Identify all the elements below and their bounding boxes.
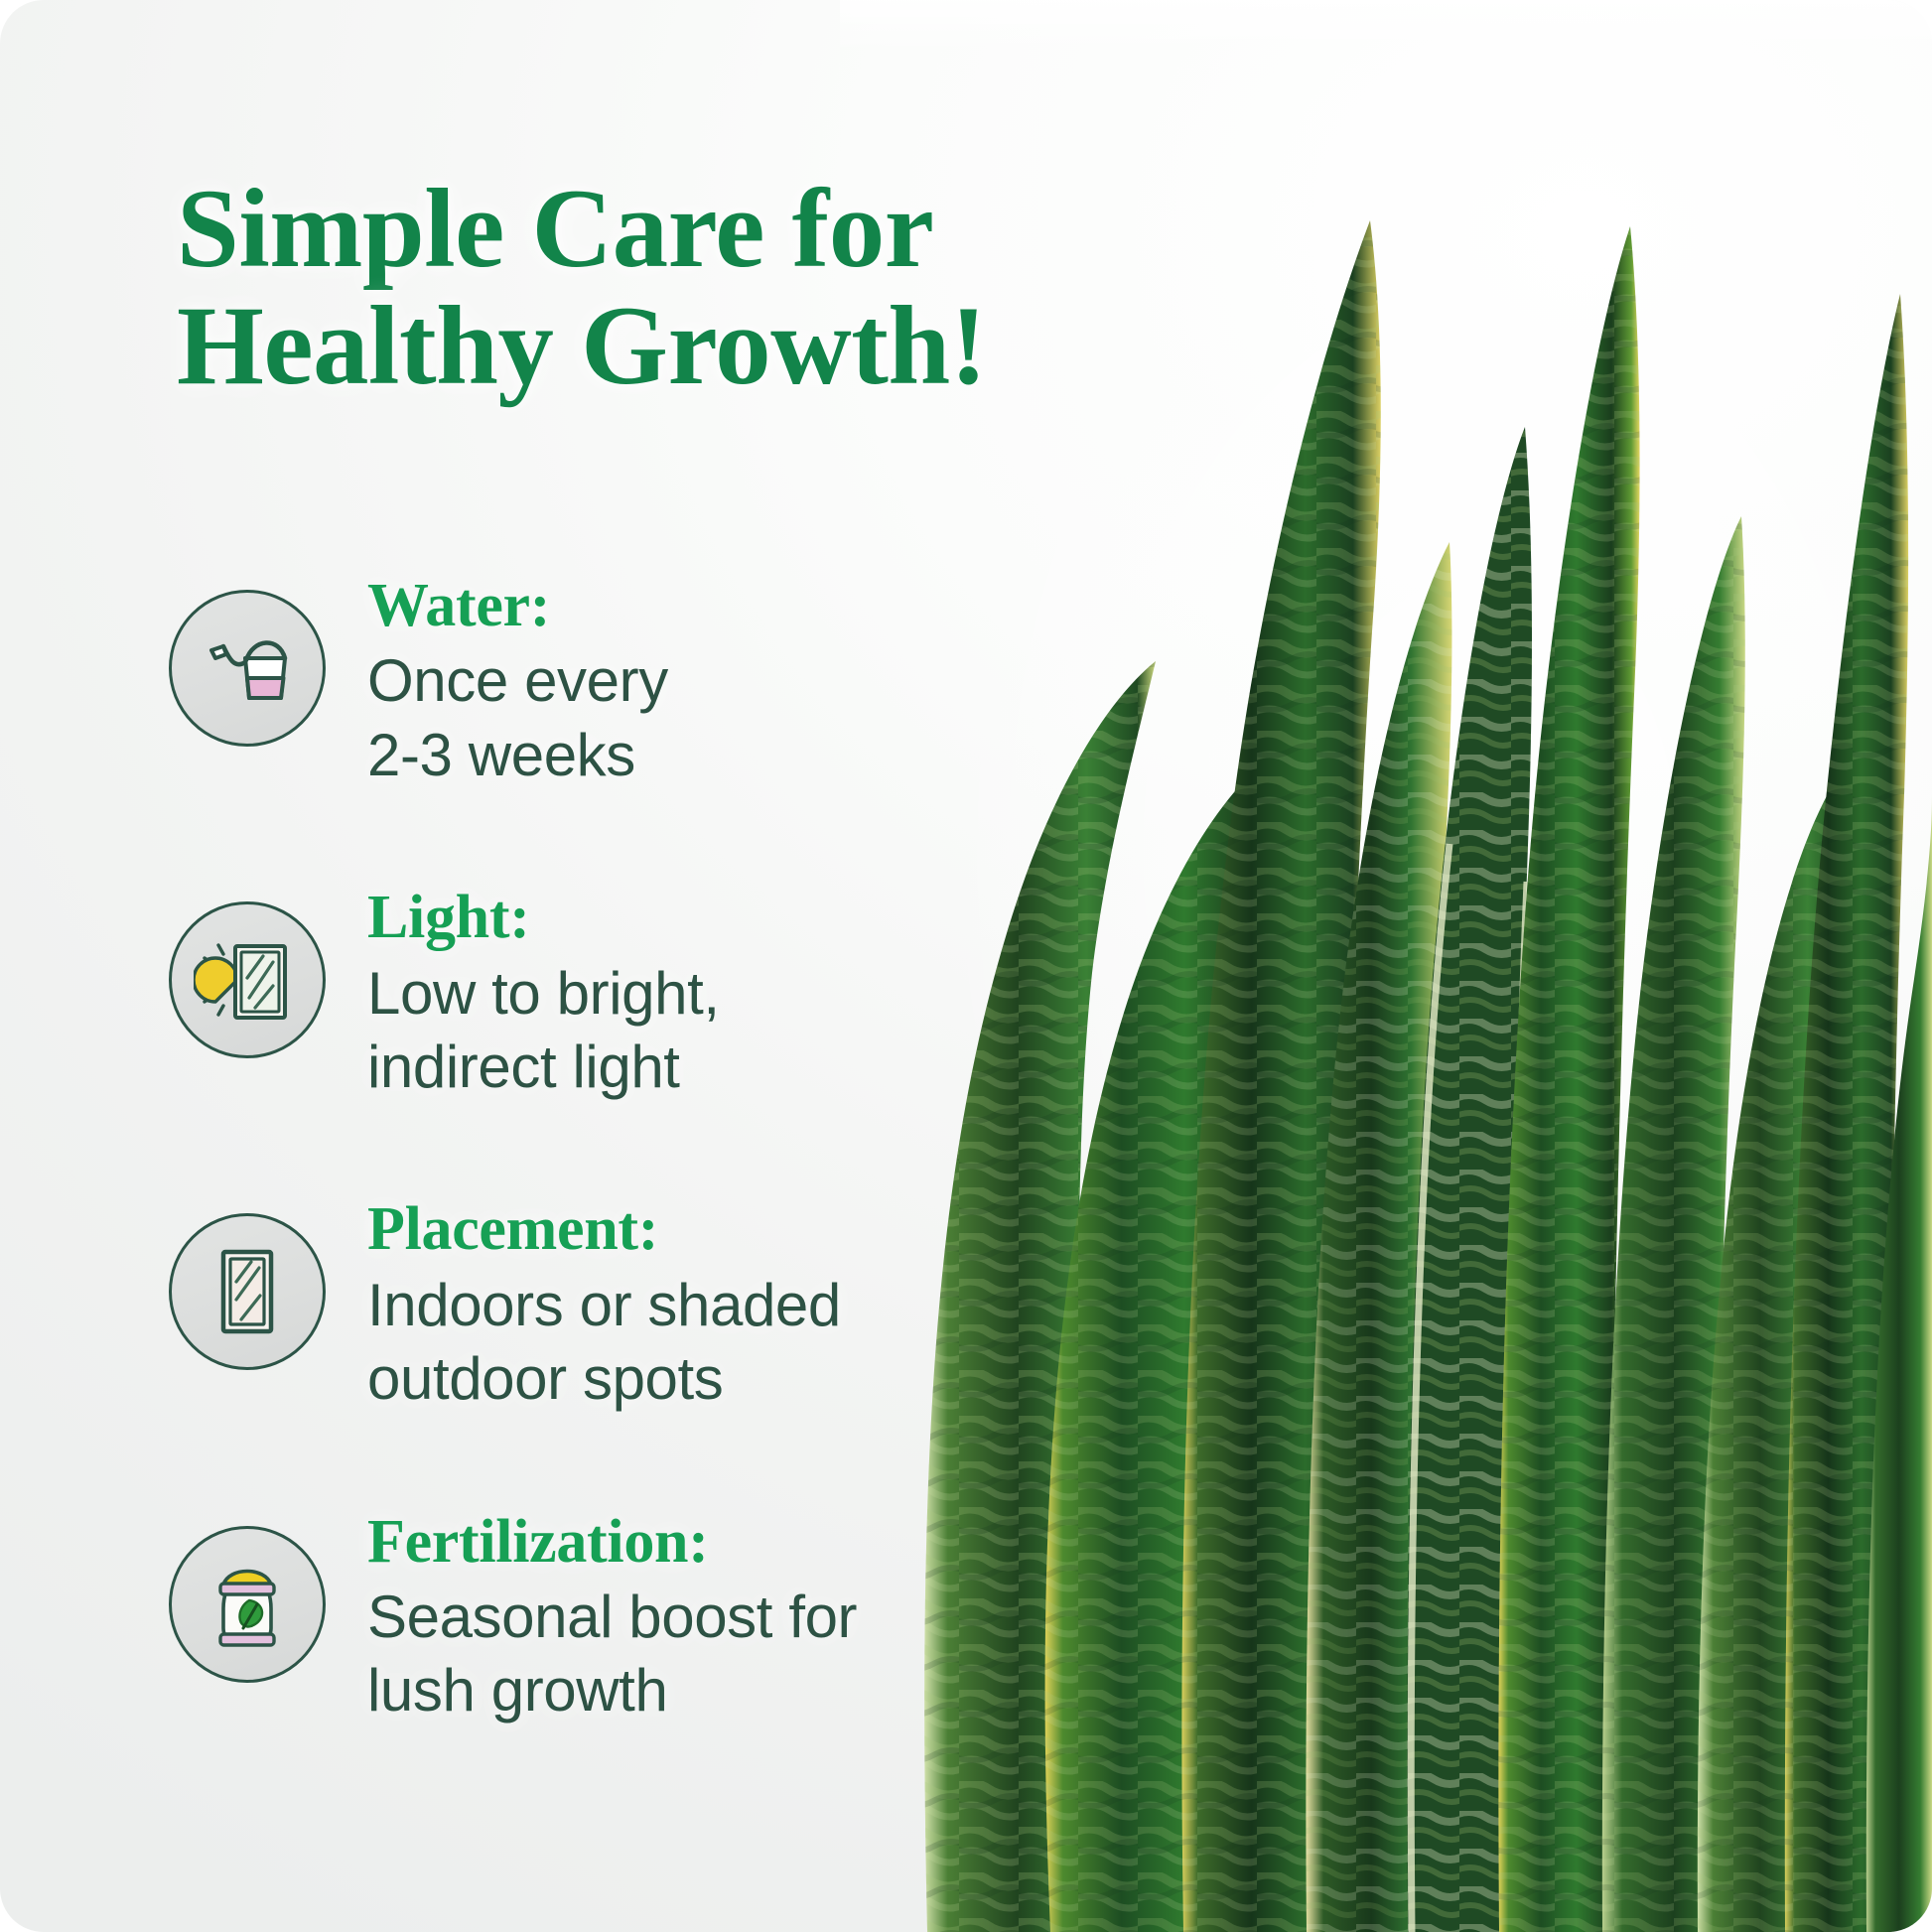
page-title: Simple Care for Healthy Growth! xyxy=(177,171,1209,404)
care-desc-fertilization: Seasonal boost for lush growth xyxy=(367,1581,857,1728)
care-text-placement: Placement: Indoors or shaded outdoor spo… xyxy=(367,1191,841,1416)
care-item-placement: Placement: Indoors or shaded outdoor spo… xyxy=(169,1191,923,1416)
care-text-light: Light: Low to bright, indirect light xyxy=(367,880,720,1104)
care-text-water: Water: Once every 2-3 weeks xyxy=(367,568,668,792)
window-frame-icon xyxy=(169,1213,326,1370)
care-item-water: Water: Once every 2-3 weeks xyxy=(169,568,923,792)
page-title-line-1: Simple Care for xyxy=(177,171,1209,288)
watering-can-icon xyxy=(169,590,326,747)
sun-window-icon xyxy=(169,901,326,1058)
care-item-fertilization: Fertilization: Seasonal boost for lush g… xyxy=(169,1504,923,1728)
page-title-line-2: Healthy Growth! xyxy=(177,288,1209,405)
care-label-placement: Placement: xyxy=(367,1195,841,1264)
care-desc-placement: Indoors or shaded outdoor spots xyxy=(367,1269,841,1417)
care-desc-water: Once every 2-3 weeks xyxy=(367,644,668,792)
care-text-fertilization: Fertilization: Seasonal boost for lush g… xyxy=(367,1504,857,1728)
care-item-light: Light: Low to bright, indirect light xyxy=(169,880,923,1104)
fertilizer-bag-icon xyxy=(169,1526,326,1683)
care-infographic-card: Simple Care for Healthy Growth! Water: O… xyxy=(0,0,1932,1932)
care-instructions-list: Water: Once every 2-3 weeks xyxy=(169,568,923,1728)
care-label-light: Light: xyxy=(367,884,720,952)
care-label-fertilization: Fertilization: xyxy=(367,1508,857,1577)
care-desc-light: Low to bright, indirect light xyxy=(367,957,720,1105)
care-label-water: Water: xyxy=(367,572,668,640)
